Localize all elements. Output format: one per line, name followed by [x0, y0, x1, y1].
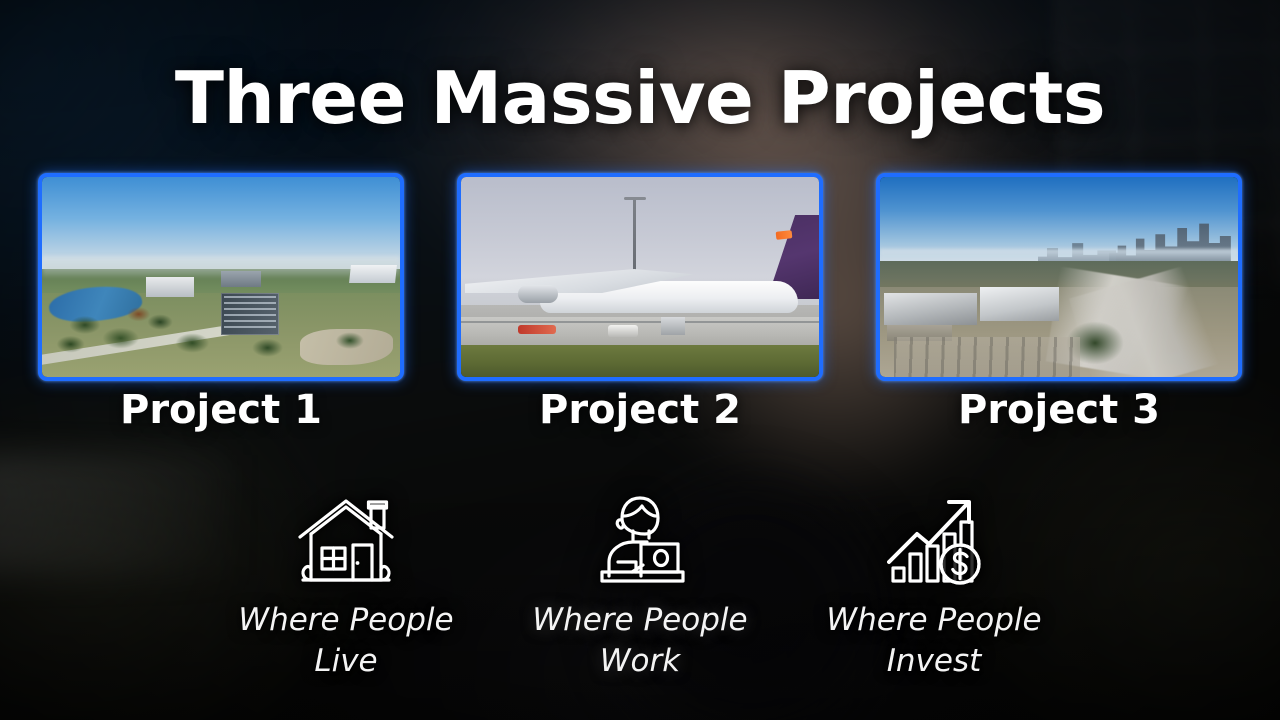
pillar-caption-live: Where People Live — [238, 600, 453, 682]
pillar-caption-work: Where People Work — [532, 600, 747, 682]
bar-chart-dollar-growth-icon — [879, 492, 989, 588]
airport-cargo-plane-image — [461, 177, 819, 377]
project-label-3: Project 3 — [876, 387, 1242, 433]
pillar-caption-invest: Where People Invest — [826, 600, 1041, 682]
project-thumbnail-1[interactable] — [38, 173, 404, 381]
pillar-work: Where People Work — [499, 492, 781, 702]
project-card-2[interactable]: Project 2 — [457, 173, 823, 381]
pillars-row: Where People Live — [205, 492, 1075, 702]
house-icon — [291, 492, 401, 588]
project-thumbnail-2[interactable] — [457, 173, 823, 381]
project-cards-row: Project 1 Project 2 — [38, 173, 1242, 381]
aerial-downtown-highway-image — [880, 177, 1238, 377]
project-card-1[interactable]: Project 1 — [38, 173, 404, 381]
project-card-3[interactable]: Project 3 — [876, 173, 1242, 381]
project-thumbnail-3[interactable] — [876, 173, 1242, 381]
aerial-suburban-office-campus-image — [42, 177, 400, 377]
project-label-2: Project 2 — [457, 387, 823, 433]
project-label-1: Project 1 — [38, 387, 404, 433]
person-at-laptop-icon — [585, 492, 695, 588]
pillar-invest: Where People Invest — [793, 492, 1075, 702]
pillar-live: Where People Live — [205, 492, 487, 702]
slide-title: Three Massive Projects — [0, 56, 1280, 140]
slide-content: Three Massive Projects Project 1 — [0, 0, 1280, 720]
presentation-slide: Three Massive Projects Project 1 — [0, 0, 1280, 720]
